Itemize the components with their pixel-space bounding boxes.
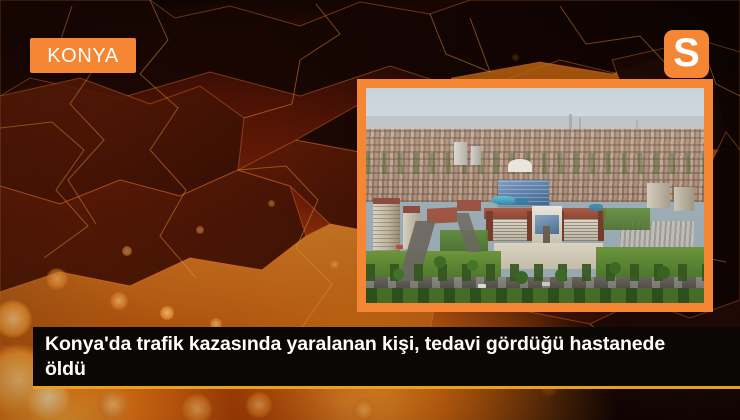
- s-logo-icon[interactable]: S: [664, 30, 709, 78]
- brand-logo-mark: S: [673, 33, 700, 73]
- headline-text: Konya'da trafik kazasında yaralanan kişi…: [33, 332, 693, 382]
- city-badge: KONYA: [30, 38, 136, 73]
- caption-bar: Konya'da trafik kazasında yaralanan kişi…: [33, 327, 740, 389]
- news-card: KONYA S Konya'da trafik kazasında yarala…: [0, 0, 740, 420]
- news-photo: [366, 88, 704, 303]
- city-badge-label: KONYA: [47, 46, 119, 66]
- news-photo-frame: [357, 79, 713, 312]
